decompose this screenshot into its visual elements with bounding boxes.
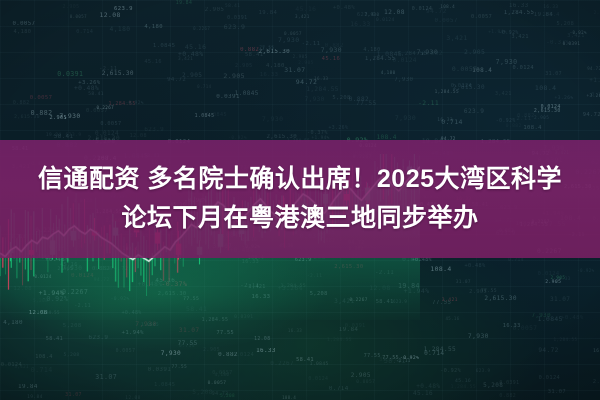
headline-line-2: 论坛下月在粤港澳三地同步举办 (121, 201, 478, 237)
news-thumbnail-image: 0.88245.1658.411.08450.005716.3358.417,9… (0, 0, 600, 400)
headline-band: 信通配资 多名院士确认出席！2025大湾区科学 论坛下月在粤港澳三地同步举办 (0, 140, 600, 258)
headline-line-1: 信通配资 多名院士确认出席！2025大湾区科学 (38, 162, 562, 198)
